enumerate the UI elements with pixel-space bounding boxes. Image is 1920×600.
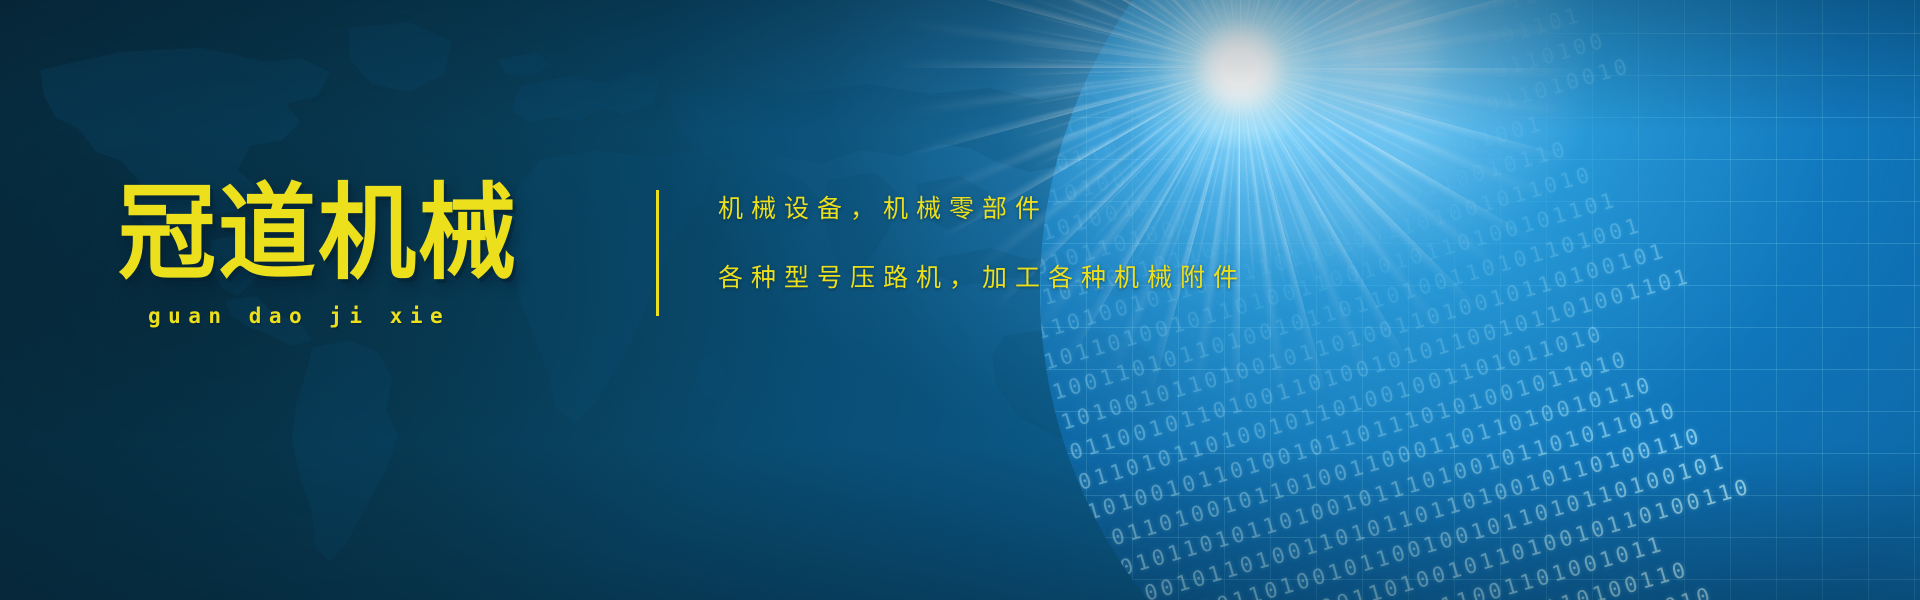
promotional-banner: 101101001011010010110110110100101101 010… [0, 0, 1920, 600]
banner-content: 冠道机械 guan dao ji xie 机械设备，机械零部件 各种型号压路机，… [0, 0, 1920, 600]
vertical-divider [656, 190, 659, 316]
tagline-secondary: 各种型号压路机，加工各种机械附件 [718, 265, 1246, 290]
brand-title: 冠道机械 [118, 182, 588, 288]
tagline-block: 机械设备，机械零部件 各种型号压路机，加工各种机械附件 [718, 196, 1246, 290]
tagline-primary: 机械设备，机械零部件 [718, 196, 1246, 221]
brand-pinyin: guan dao ji xie [118, 304, 588, 328]
brand-block: 冠道机械 guan dao ji xie [118, 182, 588, 328]
